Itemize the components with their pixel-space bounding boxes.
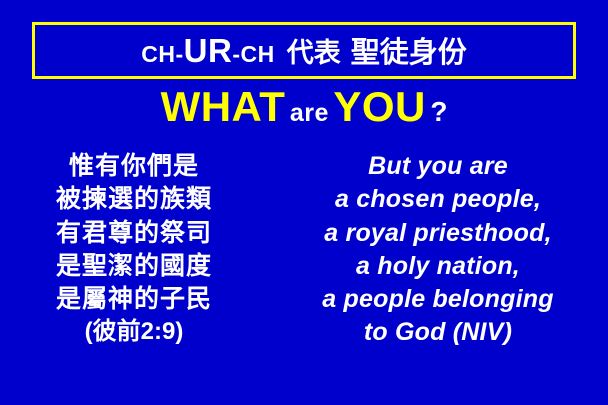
- english-verse-line: a royal priesthood,: [268, 217, 608, 250]
- chinese-verse-reference: (彼前2:9): [0, 316, 268, 348]
- subtitle-you: YOU: [333, 83, 426, 130]
- english-verse-line: But you are: [268, 150, 608, 183]
- chinese-verse-line: 是聖潔的國度: [0, 250, 268, 283]
- english-verse-line: a people belonging: [268, 283, 608, 316]
- english-verse-column: But you are a chosen people, a royal pri…: [268, 150, 608, 350]
- english-verse-line: a chosen people,: [268, 183, 608, 216]
- chinese-verse-column: 惟有你們是 被揀選的族類 有君尊的祭司 是聖潔的國度 是屬神的子民 (彼前2:9…: [0, 150, 268, 350]
- chinese-verse-line: 是屬神的子民: [0, 283, 268, 316]
- title-part-saint-identity: 聖徒身份: [351, 39, 467, 68]
- subtitle-what: WHAT: [161, 83, 286, 130]
- chinese-verse-line: 惟有你們是: [0, 150, 268, 183]
- chinese-verse-line: 有君尊的祭司: [0, 217, 268, 250]
- english-verse-line: to God (NIV): [268, 316, 608, 349]
- title-part-ch-prefix: CH-: [141, 43, 183, 66]
- subtitle-question-mark: ?: [430, 96, 447, 127]
- title-part-ur: UR: [184, 34, 233, 67]
- english-verse-line: a holy nation,: [268, 250, 608, 283]
- title-box: CH-UR-CH 代表 聖徒身份: [32, 22, 576, 79]
- title-part-represents: 代表: [287, 40, 341, 67]
- chinese-verse-line: 被揀選的族類: [0, 183, 268, 216]
- title-line: CH-UR-CH 代表 聖徒身份: [141, 34, 466, 68]
- verse-columns: 惟有你們是 被揀選的族類 有君尊的祭司 是聖潔的國度 是屬神的子民 (彼前2:9…: [0, 150, 608, 350]
- subtitle: WHAT are YOU ?: [0, 86, 608, 128]
- slide-canvas: CH-UR-CH 代表 聖徒身份 WHAT are YOU ? 惟有你們是 被揀…: [0, 0, 608, 405]
- subtitle-are: are: [290, 99, 329, 127]
- title-part-ch-suffix: -CH: [232, 43, 274, 66]
